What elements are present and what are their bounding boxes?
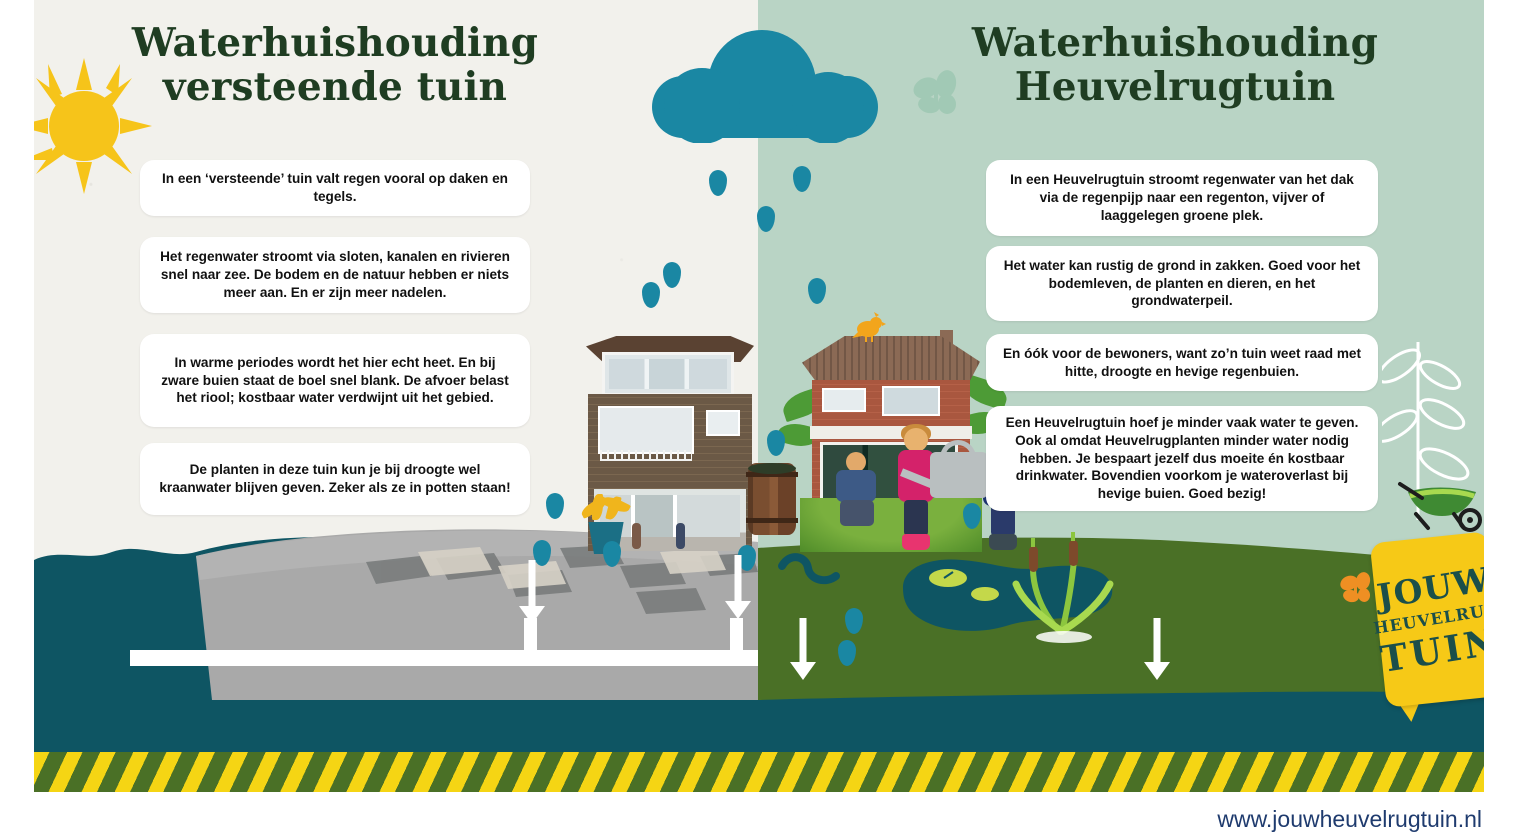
drain-shaft-2 (730, 618, 743, 654)
rain-cloud-icon (650, 28, 880, 143)
jouw-heuvelrugtuin-badge[interactable]: JOUW HEUVELRUG TUIN (1378, 537, 1496, 702)
butterfly-icon (906, 68, 966, 122)
info-card-left-3: In warme periodes wordt het hier echt he… (140, 334, 530, 427)
groundwater-layer (758, 692, 1484, 752)
info-card-right-3: En óók voor de bewoners, want zo’n tuin … (986, 334, 1378, 391)
info-card-left-2: Het regenwater stroomt via sloten, kanal… (140, 237, 530, 313)
info-card-left-4: De planten in deze tuin kun je bij droog… (140, 443, 530, 515)
arrow-down-icon (790, 618, 816, 682)
arrow-down-icon (725, 555, 751, 619)
lily-pad-2 (971, 587, 999, 601)
page-margin-left (0, 0, 34, 838)
sewer-pipe (130, 650, 758, 666)
wheelbarrow-icon (1392, 478, 1488, 534)
lily-pad-1 (929, 569, 967, 587)
info-card-right-2: Het water kan rustig de grond in zakken.… (986, 246, 1378, 321)
website-url-link[interactable]: www.jouwheuvelrugtuin.nl (1217, 806, 1482, 833)
hazard-stripe-border (34, 752, 1484, 792)
info-card-right-4: Een Heuvelrugtuin hoef je minder vaak wa… (986, 406, 1378, 511)
info-card-left-1: In een ‘versteende’ tuin valt regen voor… (140, 160, 530, 216)
arrow-down-icon (519, 560, 545, 624)
butterfly-icon (1336, 572, 1376, 606)
page-margin-right (1484, 0, 1526, 795)
person-adult (830, 452, 882, 526)
left-bottom-band (34, 700, 758, 752)
sun-icon (14, 56, 154, 196)
info-card-right-1: In een Heuvelrugtuin stroomt regenwater … (986, 160, 1378, 236)
watering-can-icon (930, 452, 988, 498)
bird-icon (852, 312, 886, 342)
rain-barrel (748, 463, 796, 535)
arrow-down-icon (1144, 618, 1170, 682)
infographic-canvas: Waterhuishouding versteende tuin Waterhu… (0, 0, 1526, 838)
